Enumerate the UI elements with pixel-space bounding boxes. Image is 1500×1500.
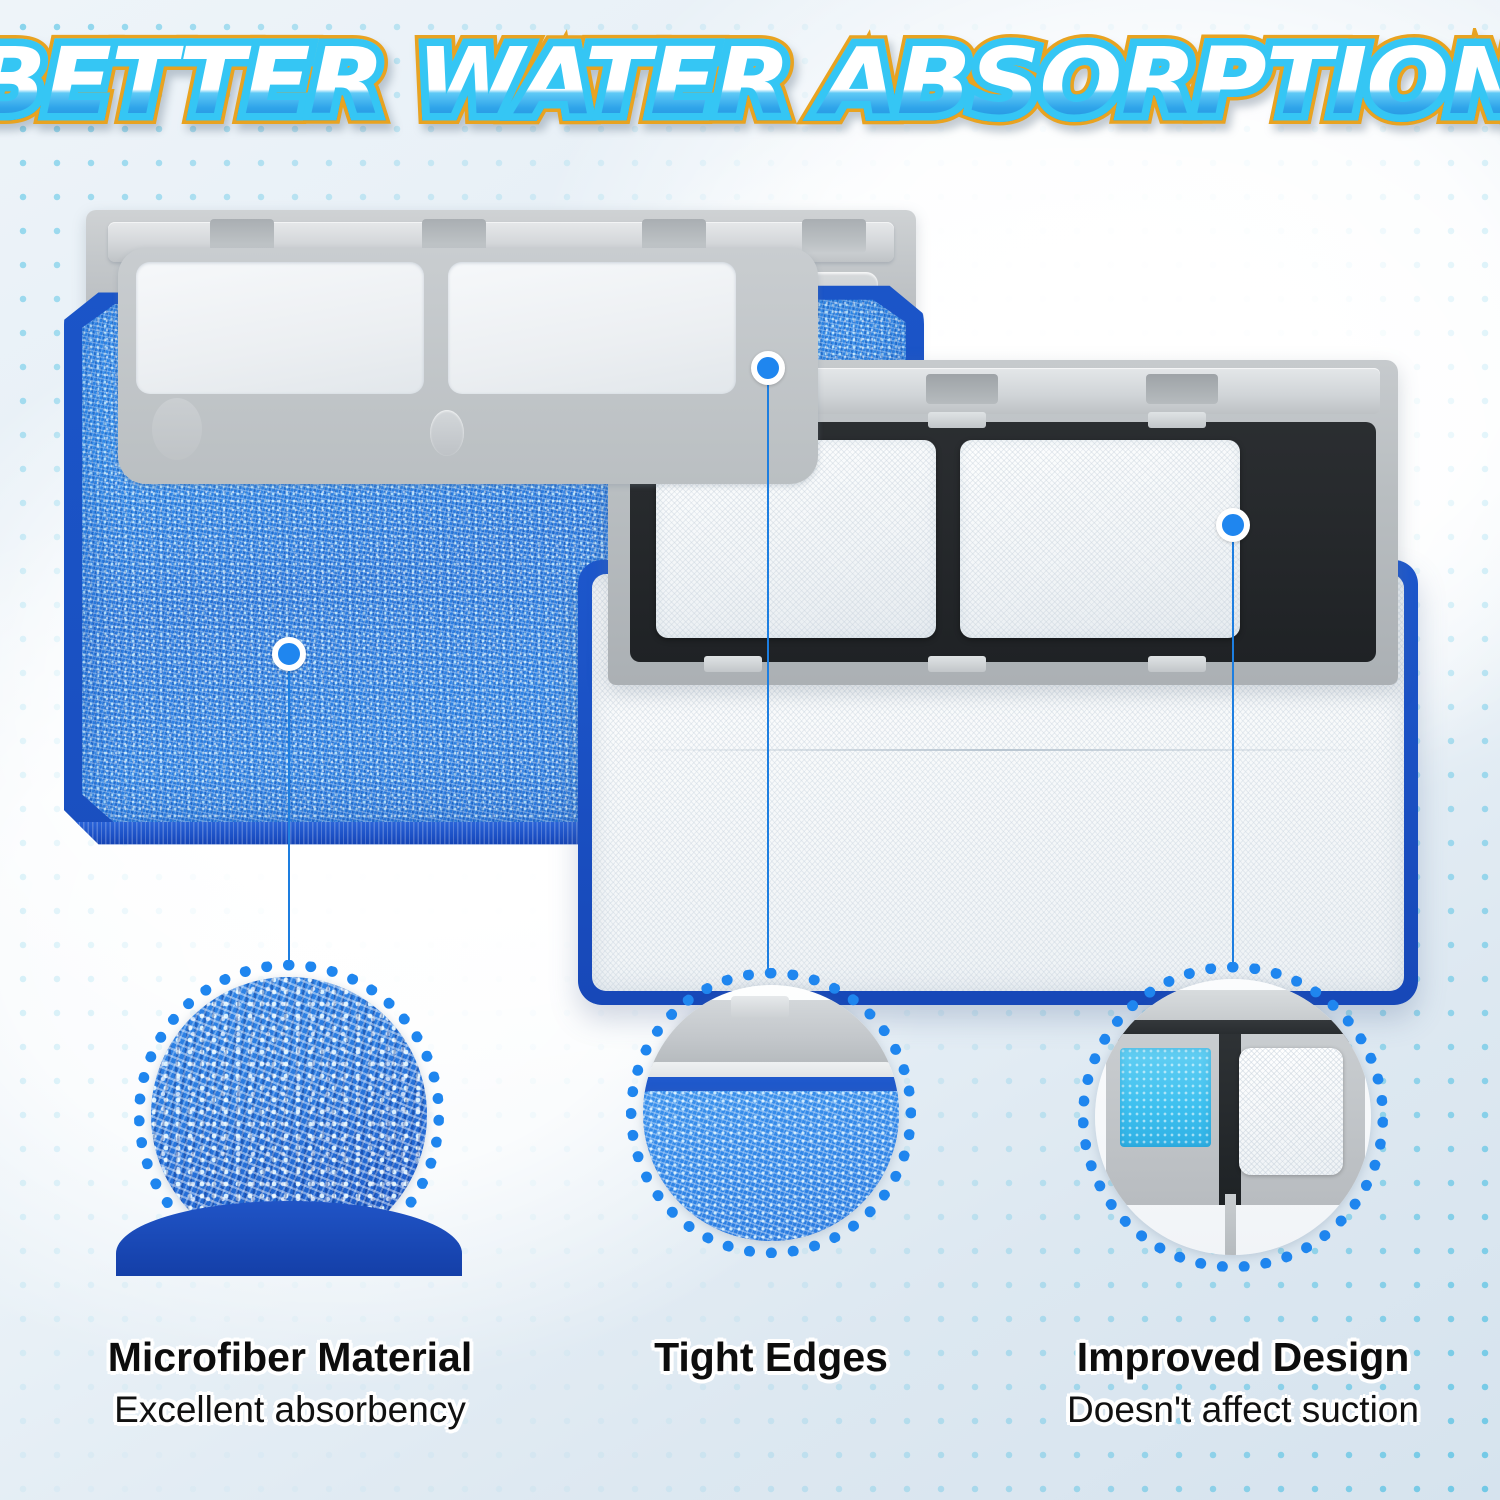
white-pad-seam: [612, 749, 1384, 751]
callout-tight-edges: [626, 968, 916, 1258]
callout-dotted-ring: [134, 960, 444, 1270]
tray-clip: [928, 412, 986, 428]
feature-subtitle: Doesn't affect suction: [1008, 1387, 1478, 1433]
feature-subtitle: Excellent absorbency: [40, 1387, 540, 1433]
title-text-stack: BETTER WATER ABSORPTION BETTER WATER ABS…: [0, 36, 1500, 128]
frame-side-bump: [152, 398, 202, 460]
edge-closeup-pad: [643, 1077, 899, 1241]
feature-caption-improved-design: Improved Design Doesn't affect suction: [1008, 1334, 1478, 1433]
microfiber-texture-macro: [151, 977, 427, 1253]
tray-clip: [1148, 656, 1206, 672]
closeup-white-filter: [1239, 1048, 1344, 1175]
product-photo-group: [0, 120, 1500, 920]
feature-title: Tight Edges: [546, 1334, 996, 1381]
marker-improved-design[interactable]: [1216, 508, 1250, 542]
leader-line-improved-design: [1232, 540, 1234, 970]
callout-image-tight-edges: [643, 985, 899, 1241]
filter-assembly-closeup: [1095, 979, 1371, 1255]
feature-title: Microfiber Material: [40, 1334, 540, 1381]
tray-notch: [802, 219, 866, 253]
edge-closeup-tab: [731, 996, 789, 1018]
callout-dotted-ring: [626, 968, 916, 1258]
feature-caption-tight-edges: Tight Edges: [546, 1334, 996, 1381]
callout-improved-design: [1078, 962, 1388, 1272]
callout-image-microfiber: [151, 977, 427, 1253]
white-pad-inner-frame: [118, 248, 818, 484]
marker-tight-edge[interactable]: [751, 351, 785, 385]
page-title: BETTER WATER ABSORPTION BETTER WATER ABS…: [0, 22, 1500, 142]
leader-line-tight-edge: [767, 382, 769, 976]
microfiber-macro-edge: [151, 1201, 427, 1253]
tray-clip: [1148, 412, 1206, 428]
frame-center-bump: [430, 410, 464, 456]
infographic-canvas: BETTER WATER ABSORPTION BETTER WATER ABS…: [0, 0, 1500, 1500]
callout-dotted-ring: [1078, 962, 1388, 1272]
frame-pane: [448, 262, 736, 394]
pad-edge-closeup: [643, 985, 899, 1241]
callout-microfiber: [134, 960, 444, 1270]
closeup-cyan-filter: [1120, 1048, 1211, 1147]
feature-caption-microfiber: Microfiber Material Excellent absorbency: [40, 1334, 540, 1433]
edge-closeup-pad-face: [643, 1091, 899, 1241]
callout-image-improved-design: [1095, 979, 1371, 1255]
closeup-divider: [1219, 1034, 1241, 1205]
rail-slot: [926, 374, 998, 404]
tray-clip: [928, 656, 986, 672]
closeup-stem: [1225, 1194, 1236, 1255]
leader-line-microfiber: [288, 668, 290, 968]
marker-microfiber[interactable]: [272, 637, 306, 671]
title-layer-fill: BETTER WATER ABSORPTION: [0, 36, 1500, 128]
edge-closeup-tray: [643, 1000, 899, 1067]
tray-clip: [704, 656, 762, 672]
white-filter-pad: [960, 440, 1240, 638]
frame-pane: [136, 262, 424, 394]
rail-slot: [1146, 374, 1218, 404]
feature-title: Improved Design: [1008, 1334, 1478, 1381]
